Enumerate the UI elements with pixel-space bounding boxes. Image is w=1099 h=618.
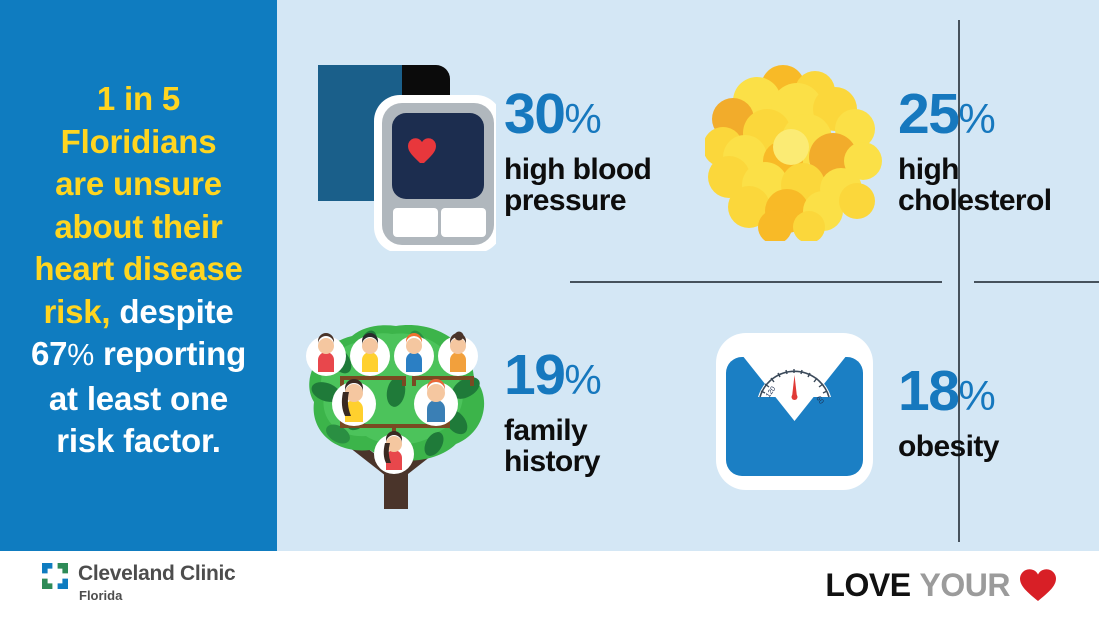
headline-line-4: about their <box>54 208 222 245</box>
cleveland-clinic-logo-icon <box>42 563 68 594</box>
campaign-love-text: LOVE <box>825 568 910 602</box>
headline-line-6-despite: despite <box>110 293 233 330</box>
stat-card-high-blood-pressure: 30% high blood pressure <box>293 20 665 281</box>
stat-text-obesity: 18% obesity <box>892 362 1080 462</box>
headline-line-7-percent: % <box>67 339 94 372</box>
headline-line-2: Floridians <box>61 123 217 160</box>
stat-label-obesity: obesity <box>898 431 1080 462</box>
blood-pressure-monitor-icon <box>293 46 498 256</box>
stat-card-high-cholesterol: 25% high cholesterol <box>697 20 1080 281</box>
love-your-heart-campaign: LOVE YOUR <box>825 568 1057 602</box>
stat-card-family-history: 19% family history <box>293 281 665 542</box>
cleveland-clinic-brand[interactable]: Cleveland Clinic Florida <box>42 563 235 604</box>
headline-line-7-rest: reporting <box>94 335 246 372</box>
brand-region: Florida <box>79 588 235 604</box>
stat-text-high-blood-pressure: 30% high blood pressure <box>498 85 665 216</box>
headline-text: 1 in 5 Floridians are unsure about their… <box>8 78 269 463</box>
headline-line-5: heart disease <box>34 250 242 287</box>
heart-icon <box>1019 568 1057 602</box>
stat-text-family-history: 19% family history <box>498 346 665 477</box>
headline-panel: 1 in 5 Floridians are unsure about their… <box>0 0 277 551</box>
stat-card-obesity: 120 60 18% obesity <box>697 281 1080 542</box>
stat-number-high-blood-pressure: 30% <box>504 85 665 148</box>
headline-line-3: are unsure <box>55 165 222 202</box>
bathroom-scale-icon: 120 60 <box>697 317 892 507</box>
brand-name: Cleveland Clinic <box>78 562 235 585</box>
family-tree-icon <box>293 312 498 512</box>
stat-text-high-cholesterol: 25% high cholesterol <box>892 85 1080 216</box>
stat-number-high-cholesterol: 25% <box>898 85 1080 148</box>
cholesterol-globule-icon <box>697 51 892 251</box>
footer-bar: Cleveland Clinic Florida LOVE YOUR <box>0 551 1099 618</box>
headline-line-1: 1 in 5 <box>97 80 180 117</box>
headline-line-9: risk factor. <box>56 422 221 459</box>
headline-line-6-risk: risk, <box>44 293 111 330</box>
infographic-root: 1 in 5 Floridians are unsure about their… <box>0 0 1099 618</box>
headline-line-7-number: 67 <box>31 335 67 372</box>
stat-label-family-history: family history <box>504 415 665 477</box>
stat-number-family-history: 19% <box>504 346 665 409</box>
stat-number-obesity: 18% <box>898 362 1080 425</box>
campaign-your-text: YOUR <box>920 568 1010 602</box>
stat-label-high-cholesterol: high cholesterol <box>898 154 1080 216</box>
stat-label-high-blood-pressure: high blood pressure <box>504 154 665 216</box>
headline-line-8: at least one <box>49 380 228 417</box>
